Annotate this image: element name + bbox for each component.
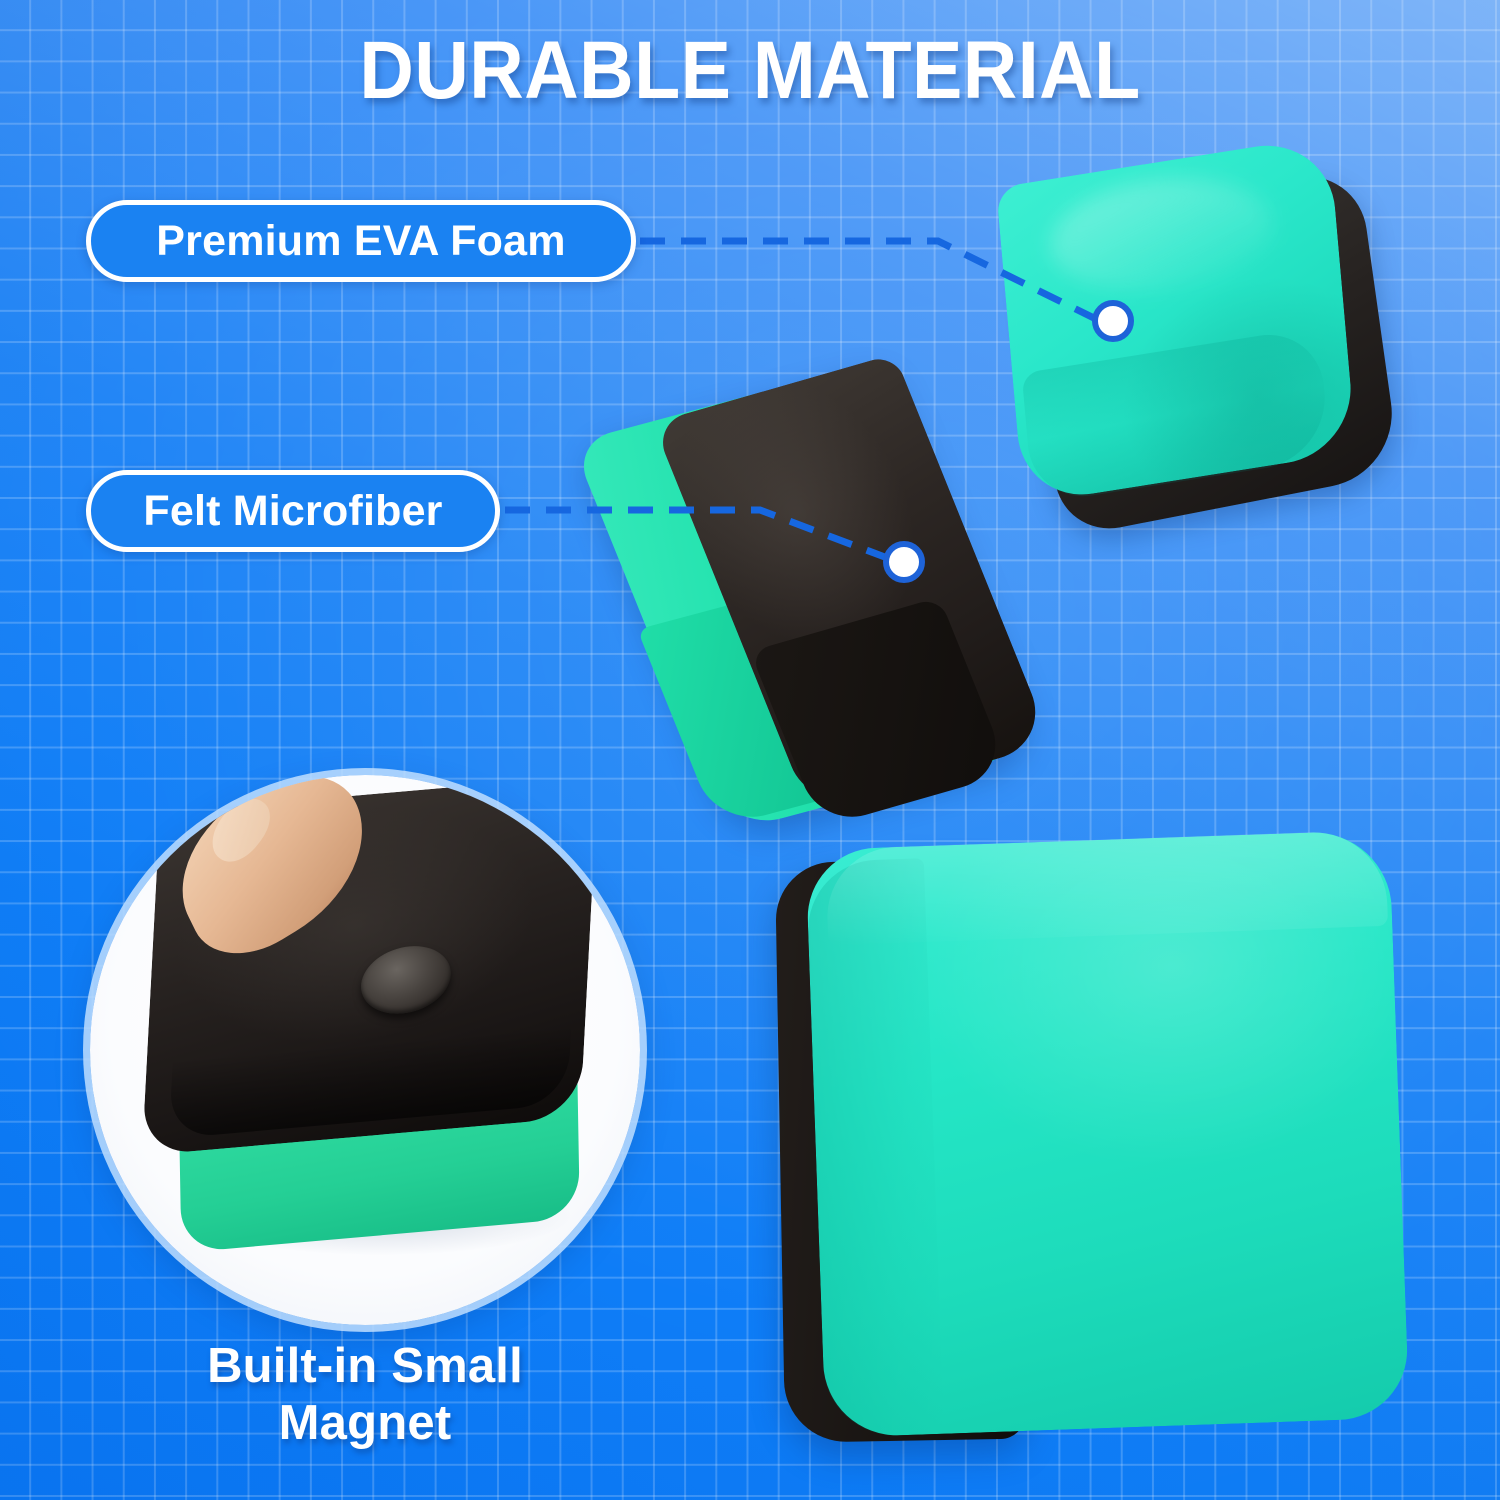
foam-top-bevel (825, 830, 1388, 945)
callout-label: Premium EVA Foam (156, 217, 565, 266)
product-eraser-middle (624, 351, 1076, 849)
callout-premium-eva-foam[interactable]: Premium EVA Foam (86, 200, 636, 282)
product-eraser-bottom-right (764, 823, 1445, 1466)
magnet-disc (360, 940, 451, 1020)
marker-dot-felt-microfiber (883, 541, 925, 583)
marker-dot-eva-foam (1092, 300, 1134, 342)
page-title: DURABLE MATERIAL (60, 28, 1440, 114)
inset-caption-line-2: Magnet (70, 1395, 660, 1452)
product-infographic: DURABLE MATERIAL Premium EVA Foam Felt M… (0, 0, 1500, 1500)
magnet-detail-inset (90, 775, 640, 1325)
inset-caption: Built-in Small Magnet (70, 1338, 660, 1452)
foam-left-bevel (806, 858, 944, 1438)
callout-label: Felt Microfiber (143, 487, 442, 536)
callout-felt-microfiber[interactable]: Felt Microfiber (86, 470, 500, 552)
inset-caption-line-1: Built-in Small (70, 1338, 660, 1395)
